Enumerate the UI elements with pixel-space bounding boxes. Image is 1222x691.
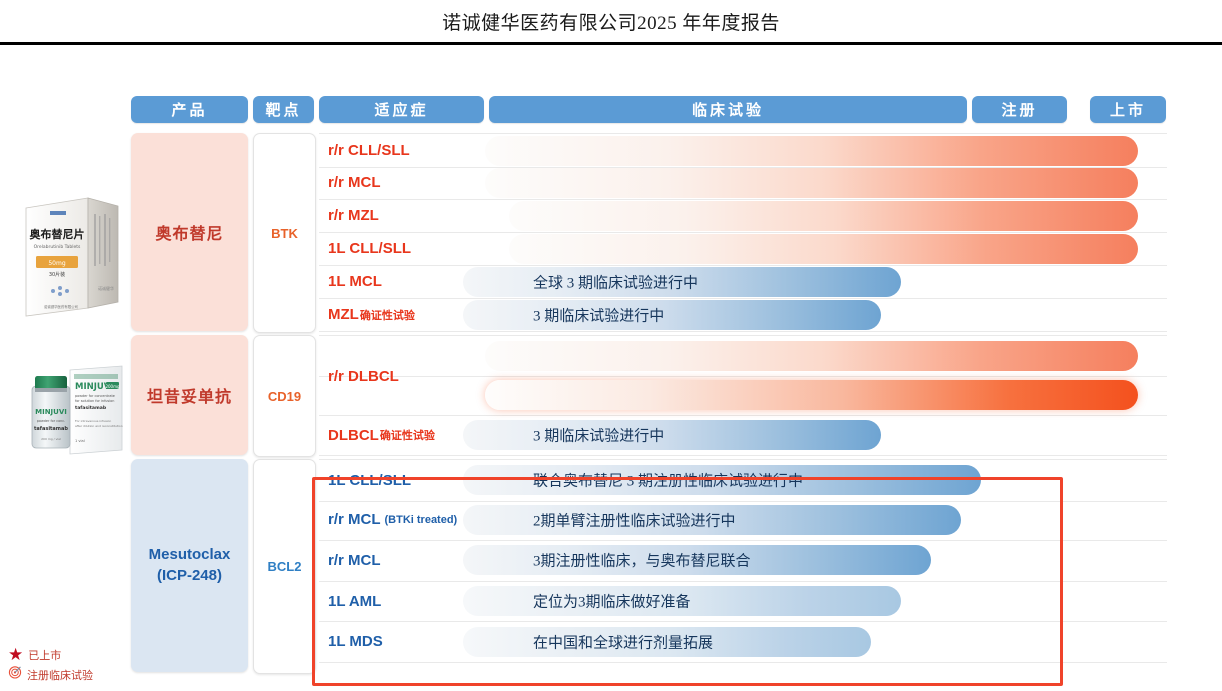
product-name-cn: 奥布替尼: [155, 220, 223, 244]
indication-cell: r/r MCL(BTKi treated): [319, 500, 489, 541]
svg-text:200mg: 200mg: [105, 384, 120, 389]
indication-sublabel: 确证性试验: [360, 307, 415, 323]
legend-item-registrational: 注册临床试验: [8, 665, 128, 684]
svg-text:奥布替尼片: 奥布替尼片: [29, 227, 85, 241]
indication-label: r/r CLL/SLL: [328, 142, 410, 159]
indication-cell: r/r CLL/SLL: [319, 134, 489, 167]
trial-description: 在中国和全球进行剂量拓展: [533, 631, 713, 652]
product-cell-orelabrutinib: 奥布替尼: [131, 133, 248, 331]
header-divider: [0, 42, 1222, 45]
target-label: BTK: [271, 226, 298, 241]
indication-cell: MZL确证性试验: [319, 298, 489, 331]
indication-label: r/r MCL: [328, 552, 381, 569]
target-label: CD19: [268, 389, 301, 404]
indication-label: r/r MZL: [328, 207, 379, 224]
column-header-product: 产品: [131, 96, 248, 123]
indication-label: 1L CLL/SLL: [328, 472, 411, 489]
trial-description: 3 期临床试验进行中: [533, 425, 664, 446]
target-label: BCL2: [268, 559, 302, 574]
progress-bar: [485, 380, 1138, 410]
page-title: 诺诚健华医药有限公司2025 年年度报告: [0, 8, 1222, 35]
pipeline-row: r/r MCL★CHN,SG: [319, 166, 1167, 200]
target-cell-cd19: CD19: [253, 335, 316, 457]
trial-description: 2期单臂注册性临床试验进行中: [533, 509, 736, 530]
svg-text:For intravenous infusion: For intravenous infusion: [75, 419, 111, 423]
progress-bar: [485, 341, 1138, 371]
svg-text:1 vial: 1 vial: [75, 439, 85, 443]
pipeline-row: r/r MZL★CHN, SG: [319, 199, 1167, 233]
target-cell-btk: BTK: [253, 133, 316, 333]
svg-text:powder for conc.: powder for conc.: [37, 419, 65, 423]
progress-bar: [463, 300, 881, 330]
pipeline-row: r/r MCL(BTKi treated)2期单臂注册性临床试验进行中: [319, 500, 1167, 542]
indication-cell: r/r MCL: [319, 540, 489, 581]
trial-description: 3 期临床试验进行中: [533, 304, 664, 325]
progress-bar: [485, 168, 1138, 198]
indication-label: r/r DLBCL: [328, 368, 399, 385]
target-icon: [8, 665, 22, 684]
svg-text:tafasitamab: tafasitamab: [75, 405, 107, 411]
svg-text:powder for concentrate: powder for concentrate: [75, 394, 115, 398]
pipeline-row: r/r MCL3期注册性临床，与奥布替尼联合: [319, 540, 1167, 582]
pipeline-row: MZL确证性试验3 期临床试验进行中: [319, 298, 1167, 332]
indication-label: MZL: [328, 306, 359, 323]
indication-cell: r/r MZL: [319, 199, 489, 232]
progress-bar: [485, 136, 1138, 166]
column-header-marketing: 上市: [1090, 96, 1166, 123]
document-header: 诺诚健华医药有限公司2025 年年度报告: [0, 0, 1222, 48]
pipeline-row: 1L MCL全球 3 期临床试验进行中: [319, 265, 1167, 299]
svg-text:30片装: 30片装: [49, 271, 65, 278]
indication-cell: r/r DLBCL: [319, 336, 489, 416]
pipeline-row: 1L AML定位为3期临床做好准备: [319, 581, 1167, 623]
indication-sublabel: 确证性试验: [380, 427, 435, 443]
product-photo-orelabrutinib: 奥布替尼片 Orelabrutinib Tablets 50mg 30片装 诺诚…: [18, 190, 128, 320]
svg-text:诺诚健华: 诺诚健华: [98, 285, 114, 291]
svg-text:Orelabrutinib Tablets: Orelabrutinib Tablets: [34, 244, 81, 250]
indication-label: r/r MCL: [328, 511, 381, 528]
product-cell-mesutoclax: Mesutoclax (ICP-248): [131, 459, 248, 672]
svg-text:for solution for infusion: for solution for infusion: [75, 399, 114, 403]
svg-text:50mg: 50mg: [48, 260, 65, 267]
target-cell-bcl2: BCL2: [253, 459, 316, 674]
legend-item-marketed: ★ 已上市: [8, 646, 128, 663]
svg-text:tafasitamab: tafasitamab: [34, 426, 68, 432]
svg-text:MINJUVI: MINJUVI: [35, 408, 67, 416]
progress-bar: [509, 234, 1138, 264]
column-header-indication: 适应症: [319, 96, 484, 123]
pipeline-row: 1L CLL/SLL联合奥布替尼 3 期注册性临床试验进行中: [319, 459, 1167, 502]
pipeline-row: r/r CLL/SLL★CHN: [319, 133, 1167, 168]
product-cell-tafasitamab: 坦昔妥单抗: [131, 335, 248, 455]
indication-cell: 1L CLL/SLL: [319, 460, 489, 501]
indication-label: r/r MCL: [328, 174, 381, 191]
trial-description: 全球 3 期临床试验进行中: [533, 271, 698, 292]
svg-text:200 mg / vial: 200 mg / vial: [41, 437, 61, 441]
indication-cell: 1L MDS: [319, 621, 489, 662]
pipeline-row: 1L MDS在中国和全球进行剂量拓展: [319, 621, 1167, 663]
svg-text:诺诚健华医药有限公司: 诺诚健华医药有限公司: [44, 304, 78, 309]
indication-sublabel: (BTKi treated): [385, 514, 458, 526]
legend-label-marketed: 已上市: [28, 647, 61, 663]
indication-label: 1L MDS: [328, 633, 383, 650]
indication-cell: DLBCL确证性试验: [319, 415, 489, 455]
progress-bar: [463, 420, 881, 450]
indication-label: 1L AML: [328, 593, 381, 610]
trial-description: 定位为3期临床做好准备: [533, 591, 691, 612]
product-photo-tafasitamab: MINJUVI 200mg powder for concentrate for…: [18, 356, 128, 464]
pipeline-row: r/r DLBCL★HK, MC, TW: [319, 335, 1167, 377]
indication-label: 1L MCL: [328, 273, 382, 290]
pipeline-row: 1L CLL/SLL★CHN: [319, 232, 1167, 266]
star-icon: ★: [8, 646, 23, 663]
svg-text:after dilution and reconstitut: after dilution and reconstitution: [75, 424, 123, 428]
column-header-registration: 注册: [972, 96, 1067, 123]
indication-label: DLBCL: [328, 427, 379, 444]
product-name-en: Mesutoclax: [149, 545, 231, 565]
trial-description: 3期注册性临床，与奥布替尼联合: [533, 550, 751, 571]
indication-label: 1L CLL/SLL: [328, 240, 411, 257]
indication-cell: r/r MCL: [319, 166, 489, 199]
progress-bar: [509, 201, 1138, 231]
indication-cell: 1L CLL/SLL: [319, 232, 489, 265]
indication-cell: 1L MCL: [319, 265, 489, 298]
chart-legend: ★ 已上市 注册临床试验: [8, 646, 128, 686]
column-header-target: 靶点: [253, 96, 314, 123]
product-code: (ICP-248): [149, 566, 231, 586]
indication-cell: 1L AML: [319, 581, 489, 622]
column-header-clinical-trial: 临床试验: [489, 96, 967, 123]
pipeline-row: DLBCL确证性试验3 期临床试验进行中: [319, 415, 1167, 456]
product-name-cn: 坦昔妥单抗: [147, 383, 232, 407]
trial-description: 联合奥布替尼 3 期注册性临床试验进行中: [533, 470, 803, 491]
legend-label-registrational: 注册临床试验: [27, 667, 93, 683]
pipeline-chart: 产品 靶点 适应症 临床试验 注册 上市 奥布替尼 坦昔妥单抗 Mesutocl…: [0, 48, 1222, 691]
